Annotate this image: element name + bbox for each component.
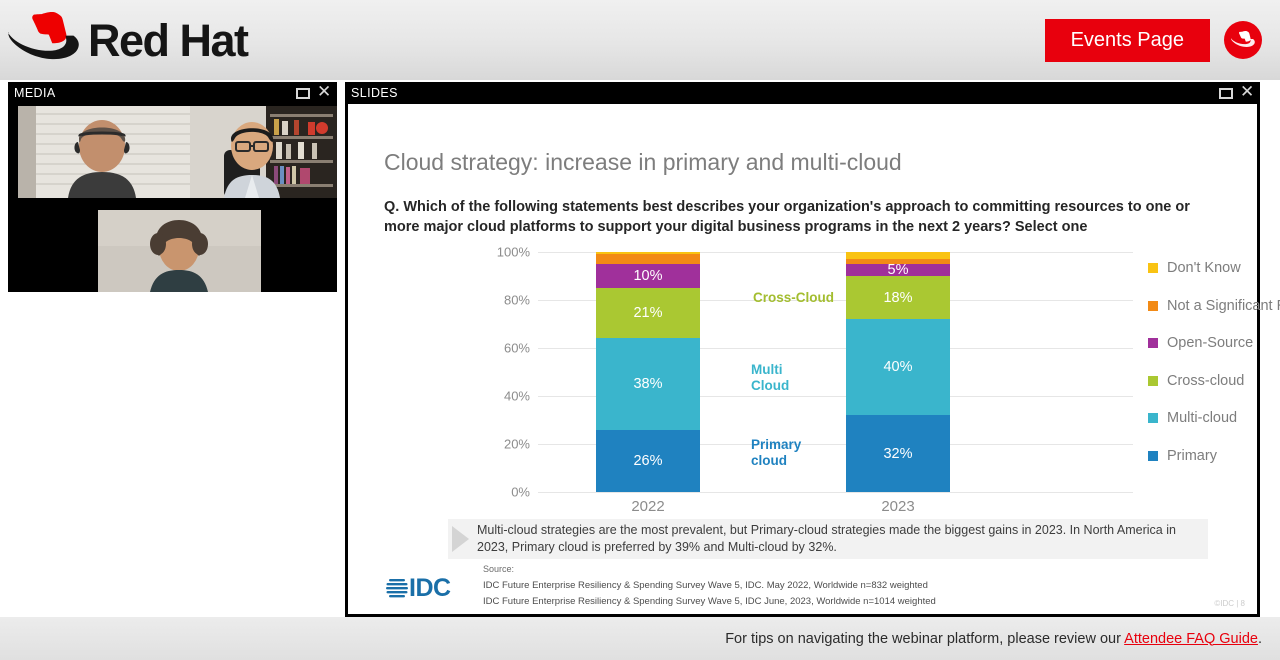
bar-segment (596, 254, 700, 264)
legend-item: Don't Know (1148, 260, 1280, 276)
footer-text-after: . (1258, 631, 1262, 647)
idc-logo: IDC (386, 574, 451, 603)
attendee-faq-guide-link[interactable]: Attendee FAQ Guide (1124, 631, 1258, 647)
bar-segment: 26% (596, 430, 700, 492)
legend-label: Primary (1167, 448, 1217, 464)
legend-swatch (1148, 376, 1158, 386)
y-axis-tick-label: 80% (504, 293, 530, 308)
media-panel: MEDIA ✕ (8, 82, 337, 292)
bar-value-label: 32% (883, 446, 912, 462)
bar-value-label: 40% (883, 359, 912, 375)
brand-text: Red Hat (88, 18, 248, 63)
webcam-feed-3 (98, 210, 261, 292)
bar-segment: 38% (596, 338, 700, 429)
chart-annotation: Multi Cloud (751, 362, 789, 394)
bar-value-label: 10% (633, 268, 662, 284)
legend-label: Don't Know (1167, 260, 1241, 276)
footer-text-before: For tips on navigating the webinar platf… (725, 631, 1124, 647)
media-video-grid[interactable] (8, 104, 337, 292)
media-panel-title: MEDIA (14, 86, 56, 100)
legend-label: Not a Significant Role (1167, 298, 1280, 314)
top-brand-bar: Red Hat Events Page (0, 0, 1280, 80)
source-line: IDC Future Enterprise Resiliency & Spend… (483, 594, 1183, 610)
bar-stack: 5%18%40%32% (846, 252, 950, 492)
bar-segment: 10% (596, 264, 700, 288)
legend-swatch (1148, 301, 1158, 311)
x-axis-tick-label: 2022 (596, 498, 700, 515)
callout-box: Multi-cloud strategies are the most prev… (448, 519, 1208, 559)
chart-annotation: Cross-Cloud (753, 290, 834, 306)
media-panel-header: MEDIA ✕ (8, 82, 337, 104)
bar-value-label: 21% (633, 305, 662, 321)
bar-stack: 10%21%38%26% (596, 252, 700, 492)
redhat-shadowman-icon[interactable] (1224, 21, 1262, 59)
legend-label: Cross-cloud (1167, 373, 1244, 389)
legend-swatch (1148, 338, 1158, 348)
video-tile-participant-3[interactable] (98, 210, 261, 292)
legend-label: Multi-cloud (1167, 410, 1237, 426)
page-background (0, 292, 345, 660)
close-icon[interactable]: ✕ (1240, 86, 1254, 100)
chart-plot-area: 0%20%40%60%80%100%10%21%38%26%20225%18%4… (538, 252, 1133, 492)
webcam-feed-2 (190, 106, 337, 198)
chart-annotation: Primary cloud (751, 437, 801, 469)
legend-item: Primary (1148, 448, 1280, 464)
y-axis-tick-label: 0% (511, 485, 530, 500)
redhat-fedora-icon (8, 12, 80, 68)
bar-value-label: 38% (633, 376, 662, 392)
slides-panel: SLIDES ✕ Cloud strategy: increase in pri… (345, 82, 1260, 617)
idc-logo-text: IDC (409, 574, 451, 603)
slide-title: Cloud strategy: increase in primary and … (384, 149, 902, 176)
callout-arrow-icon (452, 526, 469, 552)
restore-window-icon[interactable] (296, 88, 310, 99)
restore-window-icon[interactable] (1219, 88, 1233, 99)
callout-text: Multi-cloud strategies are the most prev… (477, 522, 1208, 557)
legend-item: Open-Source (1148, 335, 1280, 351)
footer-bar: For tips on navigating the webinar platf… (0, 617, 1280, 660)
slides-panel-title: SLIDES (351, 86, 398, 100)
y-axis-tick-label: 100% (497, 245, 530, 260)
legend-swatch (1148, 263, 1158, 273)
bar-value-label: 26% (633, 453, 662, 469)
legend-item: Multi-cloud (1148, 410, 1280, 426)
slides-panel-header: SLIDES ✕ (345, 82, 1260, 104)
chart-legend: Don't KnowNot a Significant RoleOpen-Sou… (1148, 260, 1280, 485)
source-label: Source: (483, 564, 1183, 574)
y-axis-tick-label: 60% (504, 341, 530, 356)
bar-segment (846, 252, 950, 259)
bar-segment: 5% (846, 264, 950, 276)
webcam-feed-1 (18, 106, 190, 198)
bar-segment: 18% (846, 276, 950, 319)
legend-swatch (1148, 413, 1158, 423)
video-tile-participant-1[interactable] (18, 106, 190, 198)
source-block: Source: IDC Future Enterprise Resiliency… (483, 564, 1183, 609)
shadowman-glyph (1231, 31, 1255, 50)
gridline (538, 492, 1133, 493)
video-tile-participant-2[interactable] (190, 106, 337, 198)
legend-label: Open-Source (1167, 335, 1253, 351)
slide-question: Q. Which of the following statements bes… (384, 197, 1224, 237)
events-page-button[interactable]: Events Page (1045, 19, 1210, 62)
slide-canvas: Cloud strategy: increase in primary and … (348, 104, 1257, 614)
idc-globe-icon (386, 576, 408, 602)
y-axis-tick-label: 40% (504, 389, 530, 404)
bar-segment: 32% (846, 415, 950, 492)
source-line: IDC Future Enterprise Resiliency & Spend… (483, 578, 1183, 594)
bar-value-label: 18% (883, 290, 912, 306)
bar-segment: 40% (846, 319, 950, 415)
x-axis-tick-label: 2023 (846, 498, 950, 515)
y-axis-tick-label: 20% (504, 437, 530, 452)
legend-item: Not a Significant Role (1148, 298, 1280, 314)
stacked-bar-chart: 0%20%40%60%80%100%10%21%38%26%20225%18%4… (448, 252, 1248, 502)
redhat-logo[interactable]: Red Hat (8, 12, 248, 68)
bar-segment: 21% (596, 288, 700, 338)
legend-swatch (1148, 451, 1158, 461)
legend-item: Cross-cloud (1148, 373, 1280, 389)
footer-text: For tips on navigating the webinar platf… (725, 631, 1262, 647)
close-icon[interactable]: ✕ (317, 86, 331, 100)
slide-copyright: ©IDC | 8 (1214, 599, 1245, 608)
